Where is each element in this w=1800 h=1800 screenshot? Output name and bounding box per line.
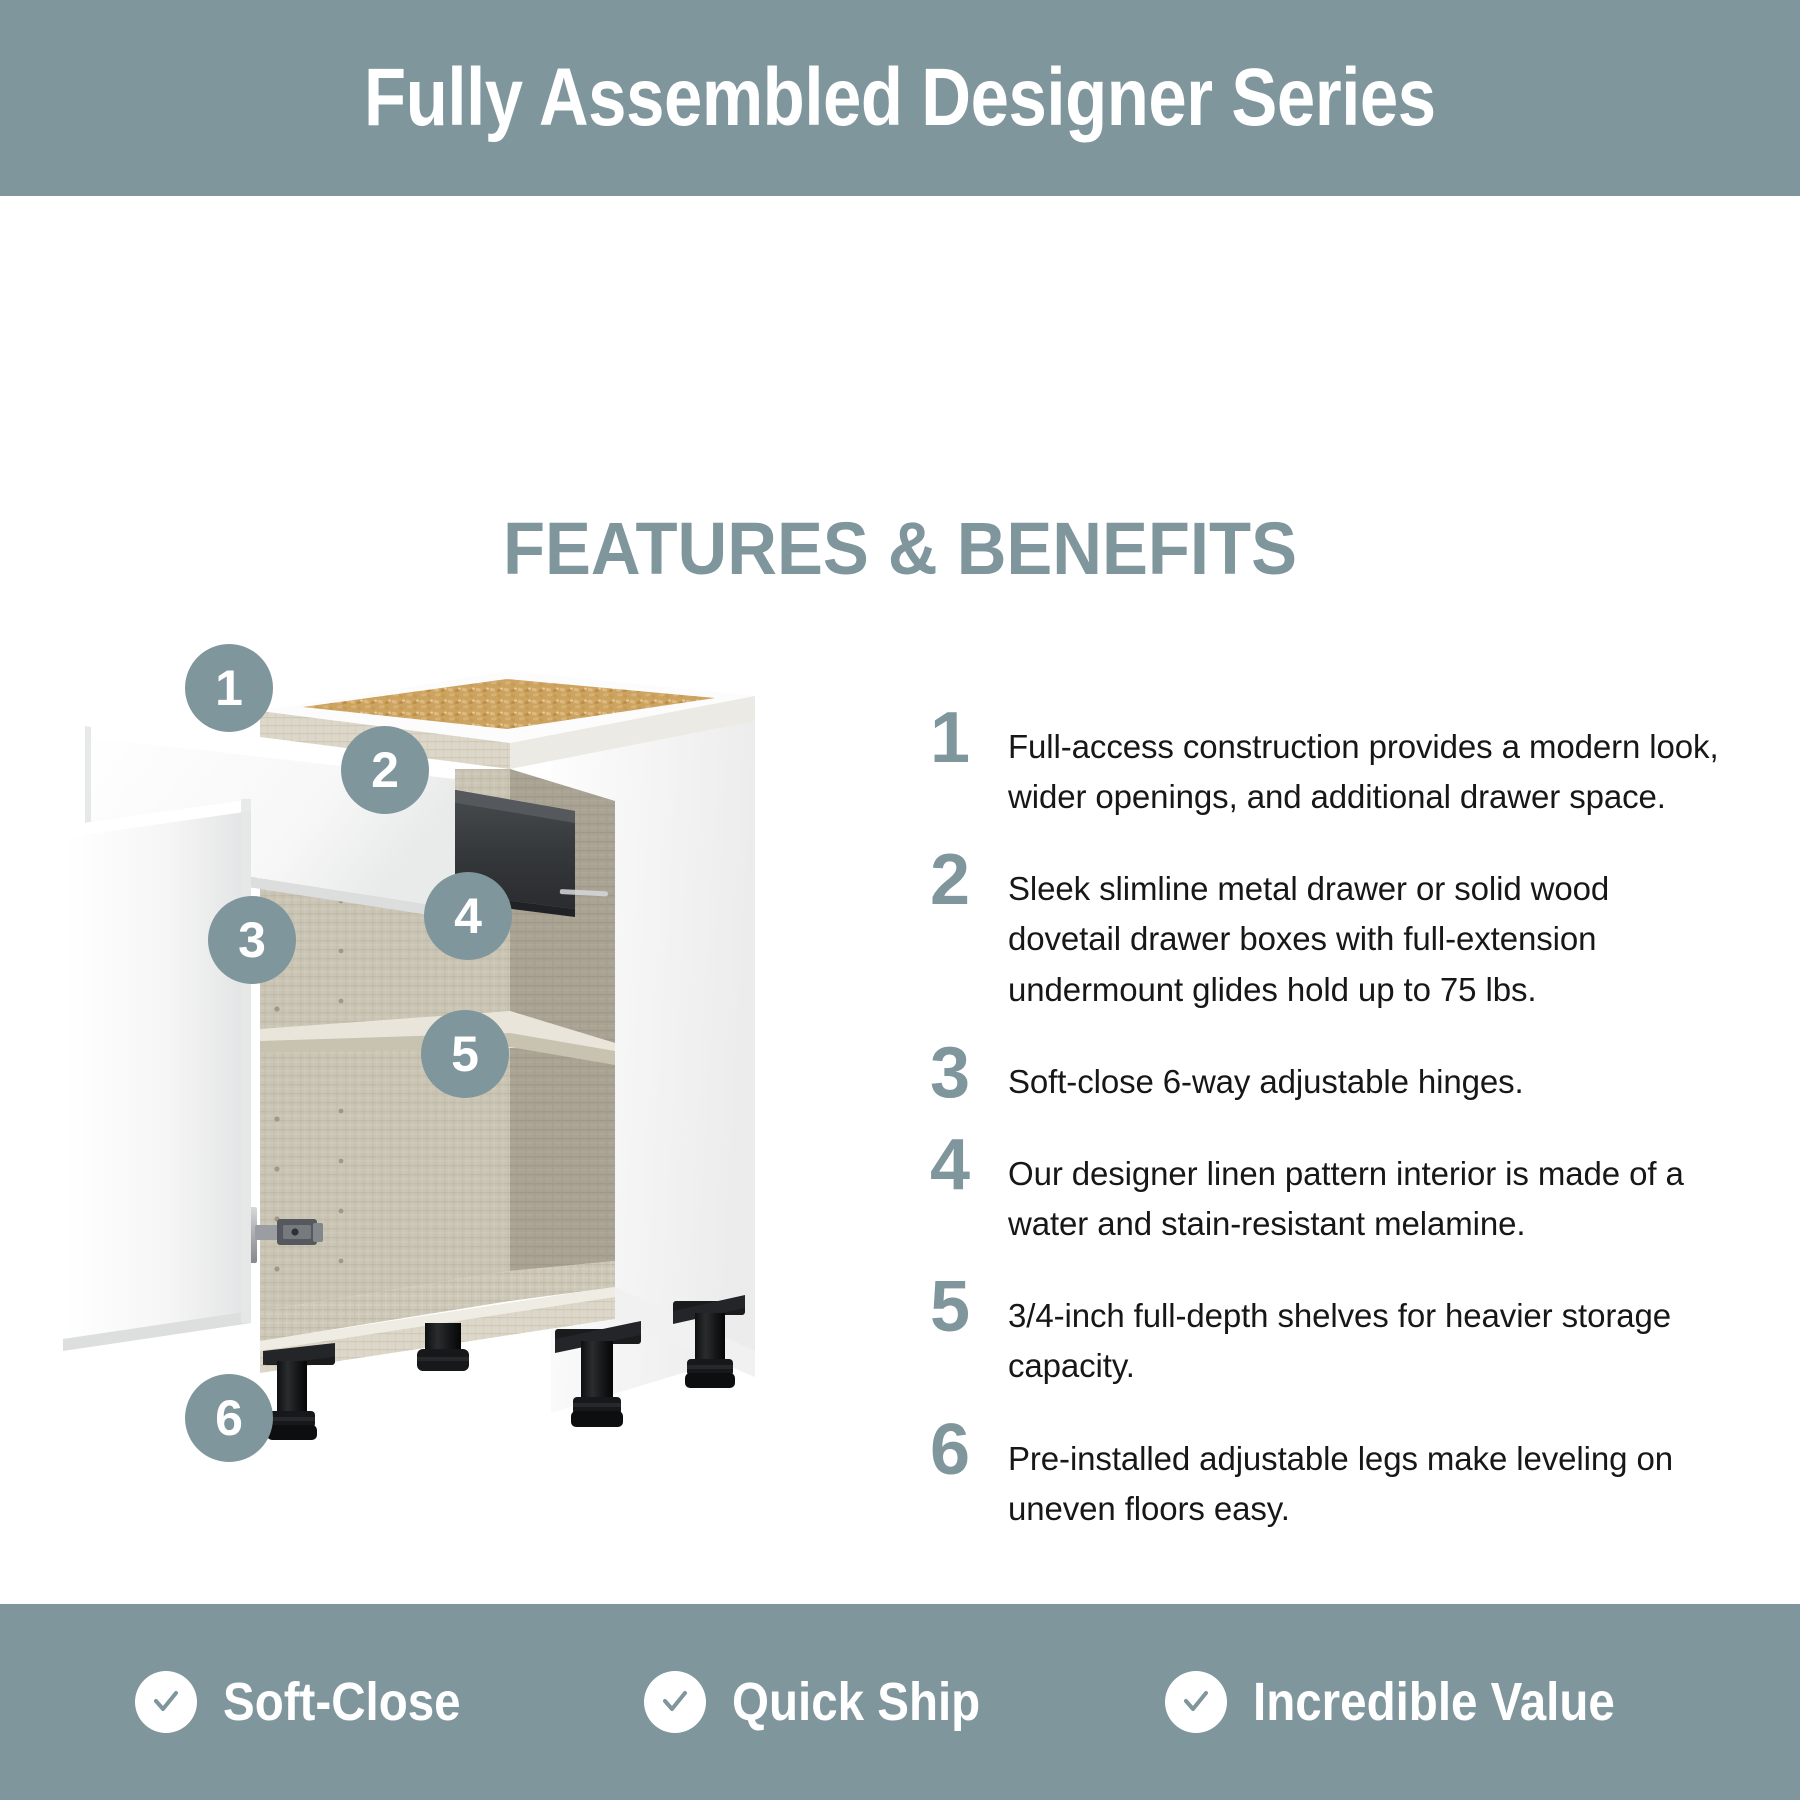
feature-number: 4 [930,1133,1008,1197]
footer-badge-incredible-value: Incredible Value [1165,1671,1664,1733]
feature-item-6: 6 Pre-installed adjustable legs make lev… [930,1418,1720,1534]
adjustable-leg-front-left [263,1343,335,1440]
check-circle-icon [1165,1671,1227,1733]
callout-number: 6 [215,1393,243,1443]
callout-bubble-4: 4 [424,872,512,960]
callout-number: 5 [451,1029,479,1079]
page-title: Fully Assembled Designer Series [364,57,1436,139]
infographic-page: Fully Assembled Designer Series FEATURES… [0,0,1800,1800]
check-circle-icon [644,1671,706,1733]
section-heading: FEATURES & BENEFITS [63,512,1737,586]
footer-badge-soft-close: Soft-Close [135,1671,493,1733]
feature-list: 1 Full-access construction provides a mo… [930,706,1720,1560]
callout-bubble-2: 2 [341,726,429,814]
feature-number: 5 [930,1275,1008,1339]
feature-description: 3/4-inch full-depth shelves for heavier … [1008,1275,1720,1391]
feature-description: Our designer linen pattern interior is m… [1008,1133,1720,1249]
header-band: Fully Assembled Designer Series [0,0,1800,196]
callout-bubble-6: 6 [185,1374,273,1462]
footer-label: Soft-Close [223,1675,461,1729]
footer-band: Soft-Close Quick Ship Incredible Value [0,1604,1800,1800]
footer-label: Quick Ship [732,1675,980,1729]
callout-bubble-3: 3 [208,896,296,984]
callout-number: 2 [371,745,399,795]
feature-description: Soft-close 6-way adjustable hinges. [1008,1041,1720,1107]
main-content: FEATURES & BENEFITS [0,196,1800,1604]
check-circle-icon [135,1671,197,1733]
callout-bubble-1: 1 [185,644,273,732]
callout-number: 4 [454,891,482,941]
feature-item-2: 2 Sleek slimline metal drawer or solid w… [930,848,1720,1014]
callout-number: 3 [238,915,266,965]
feature-number: 3 [930,1041,1008,1105]
feature-number: 2 [930,848,1008,912]
feature-description: Full-access construction provides a mode… [1008,706,1720,822]
feature-item-3: 3 Soft-close 6-way adjustable hinges. [930,1041,1720,1107]
feature-item-1: 1 Full-access construction provides a mo… [930,706,1720,822]
footer-label: Incredible Value [1253,1675,1615,1729]
feature-item-4: 4 Our designer linen pattern interior is… [930,1133,1720,1249]
callout-number: 1 [215,663,243,713]
feature-number: 6 [930,1418,1008,1482]
callout-bubble-5: 5 [421,1010,509,1098]
footer-badge-quick-ship: Quick Ship [644,1671,1014,1733]
feature-description: Sleek slimline metal drawer or solid woo… [1008,848,1720,1014]
feature-item-5: 5 3/4-inch full-depth shelves for heavie… [930,1275,1720,1391]
feature-description: Pre-installed adjustable legs make level… [1008,1418,1720,1534]
cabinet-door [63,799,251,1351]
feature-number: 1 [930,706,1008,770]
